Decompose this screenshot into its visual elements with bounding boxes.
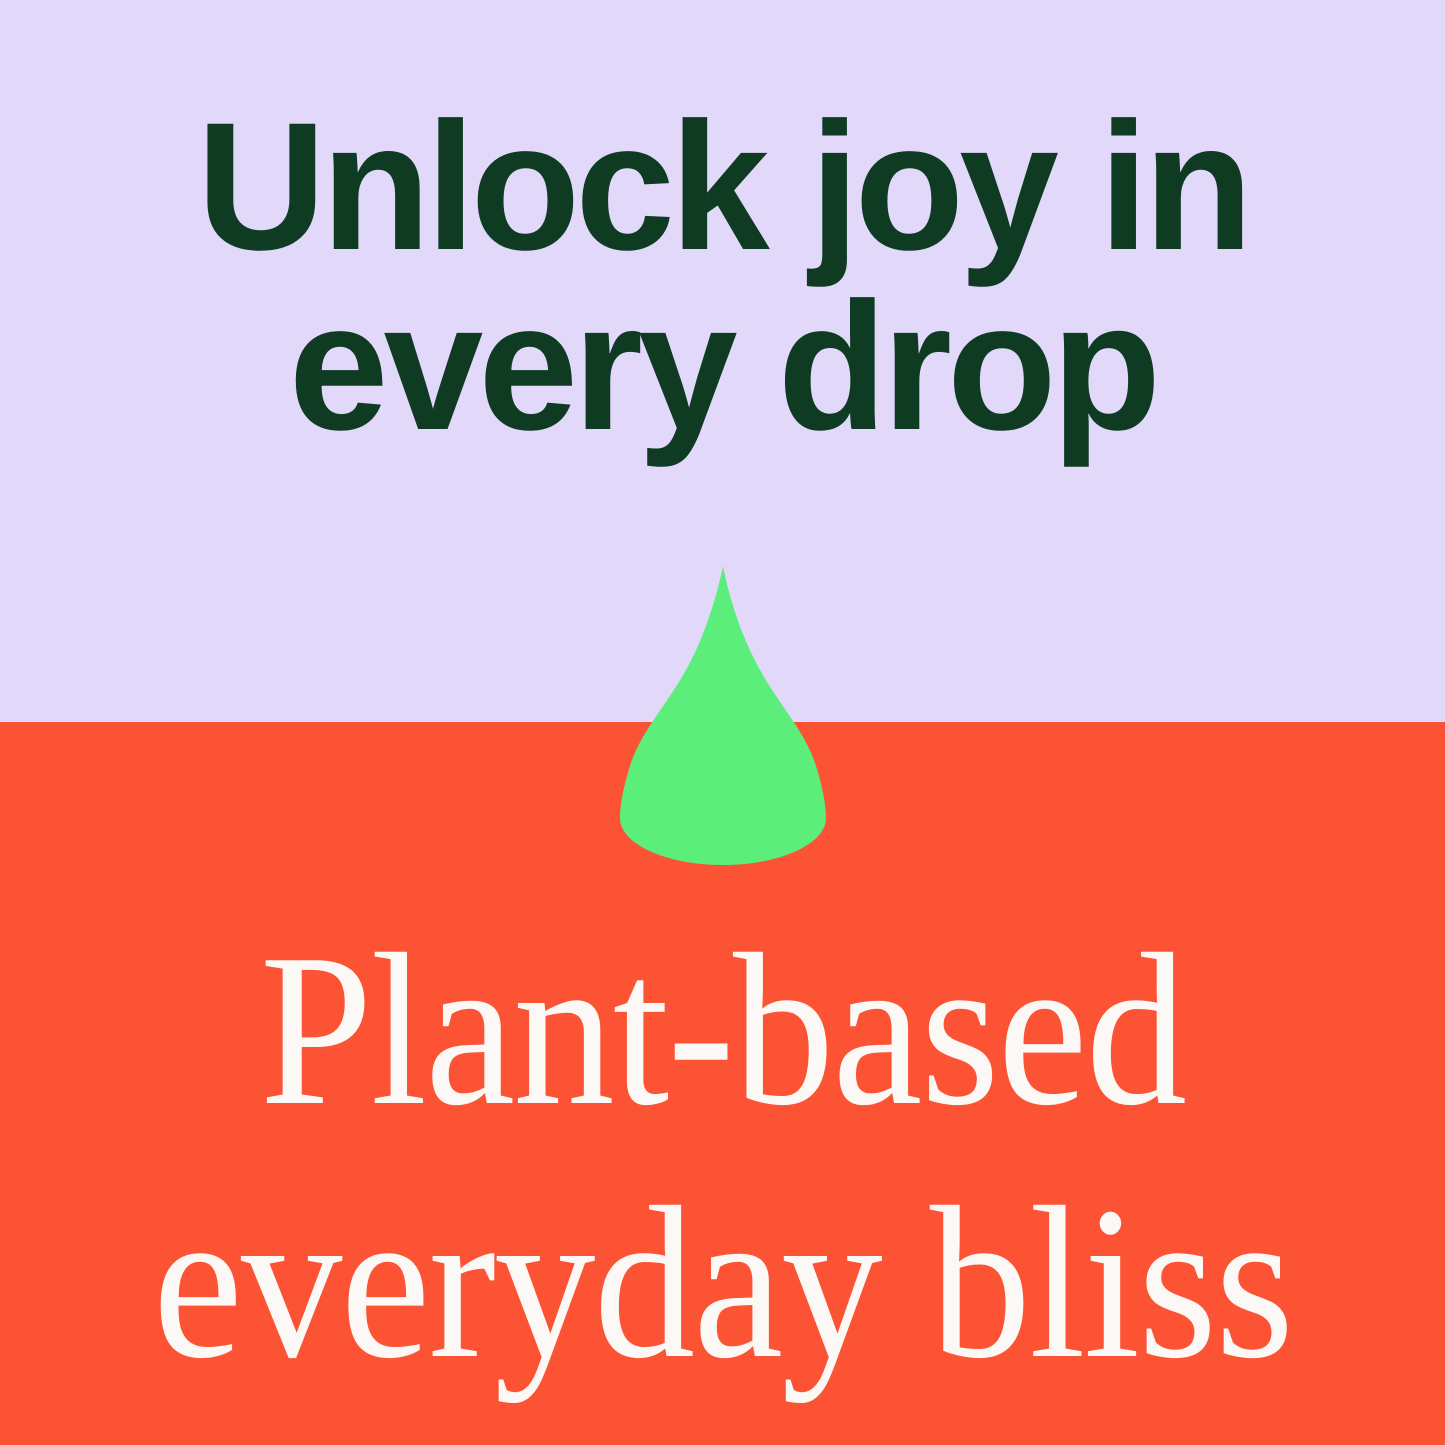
- headline-line-2: every drop: [11, 276, 1434, 456]
- headline-line-1: Unlock joy in: [11, 96, 1434, 276]
- subheadline-line-1: Plant-based: [51, 905, 1395, 1158]
- subheadline: Plant-based everyday bliss: [0, 905, 1445, 1411]
- headline: Unlock joy in every drop: [0, 96, 1445, 456]
- subheadline-line-2: everyday bliss: [51, 1158, 1395, 1411]
- promo-poster: Unlock joy in every drop Plant-based eve…: [0, 0, 1445, 1445]
